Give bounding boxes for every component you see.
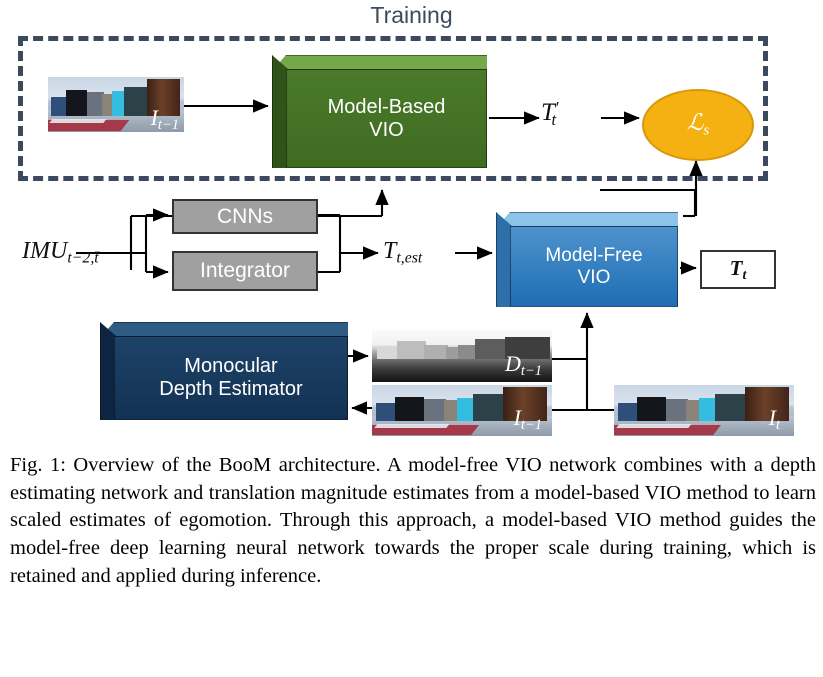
output-pose-label: Tt	[730, 256, 747, 283]
thumbnail-label: It−1	[151, 105, 179, 132]
scene-cube	[66, 90, 88, 115]
imu-label: IMUt−2,t̄	[22, 238, 99, 267]
caption-text: Fig. 1: Overview of the BooM architectur…	[10, 452, 816, 590]
scene-cube	[424, 399, 446, 420]
box-front-face: Model-Based VIO	[286, 69, 487, 168]
scene-cube	[376, 403, 396, 420]
thumbnail-depth-map-prev: Dt−1	[372, 330, 552, 382]
block-label-line1: Monocular	[184, 355, 277, 378]
block-model-free-vio: Model-Free VIO	[496, 212, 678, 307]
block-label-line2: Depth Estimator	[159, 378, 302, 401]
block-label-line2: VIO	[369, 119, 403, 142]
figure-caption: Fig. 1: Overview of the BooM architectur…	[10, 452, 816, 590]
depth-blob	[424, 345, 447, 360]
scene-white-stripe	[374, 424, 449, 428]
rgb-scene-render	[614, 385, 794, 436]
block-model-based-vio: Model-Based VIO	[272, 55, 487, 168]
figure-page: Training	[0, 0, 823, 677]
scene-cube	[457, 398, 473, 420]
t-est-label: Tt,est	[383, 238, 422, 267]
thumbnail-rgb-image-prev-bottom: It−1	[372, 385, 552, 436]
scene-white-stripe	[616, 424, 691, 428]
loss-label: ℒs	[687, 110, 709, 139]
output-pose-box: Tt	[700, 250, 776, 289]
block-monocular-depth-estimator: Monocular Depth Estimator	[100, 322, 348, 420]
scene-cube	[124, 87, 147, 116]
training-label: Training	[0, 2, 823, 29]
thumbnail-rgb-image-current: It	[614, 385, 794, 436]
scene-cube	[637, 397, 666, 420]
depth-blob	[377, 346, 399, 360]
t-prime-label: T′t	[541, 98, 556, 130]
scene-cube	[51, 97, 66, 116]
figure-diagram: Training	[0, 0, 823, 445]
scene-white-stripe	[49, 119, 106, 123]
block-label-line2: VIO	[578, 267, 611, 289]
scene-cube	[745, 387, 788, 421]
block-label-line1: Model-Free	[545, 245, 642, 267]
box-front-face: Model-Free VIO	[510, 226, 678, 307]
scene-cube	[395, 397, 424, 420]
depth-blob	[397, 341, 426, 359]
thumbnail-label: Dt−1	[505, 351, 542, 380]
scene-cube	[87, 92, 103, 115]
thumbnail-rgb-image-prev-top: It−1	[48, 77, 184, 132]
scene-cube	[473, 394, 504, 421]
block-label: CNNs	[217, 205, 273, 229]
scale-loss-node: ℒs	[642, 89, 754, 161]
block-label-line1: Model-Based	[328, 96, 446, 119]
scene-cube	[715, 394, 746, 421]
scene-cube	[699, 398, 715, 420]
thumbnail-label: It−1	[514, 405, 542, 434]
block-integrator: Integrator	[172, 251, 318, 291]
block-label: Integrator	[200, 259, 290, 283]
block-cnns: CNNs	[172, 199, 318, 234]
thumbnail-label: It	[769, 405, 780, 434]
box-front-face: Monocular Depth Estimator	[114, 336, 348, 420]
scene-cube	[666, 399, 688, 420]
scene-cube	[112, 91, 124, 115]
scene-cube	[618, 403, 638, 420]
